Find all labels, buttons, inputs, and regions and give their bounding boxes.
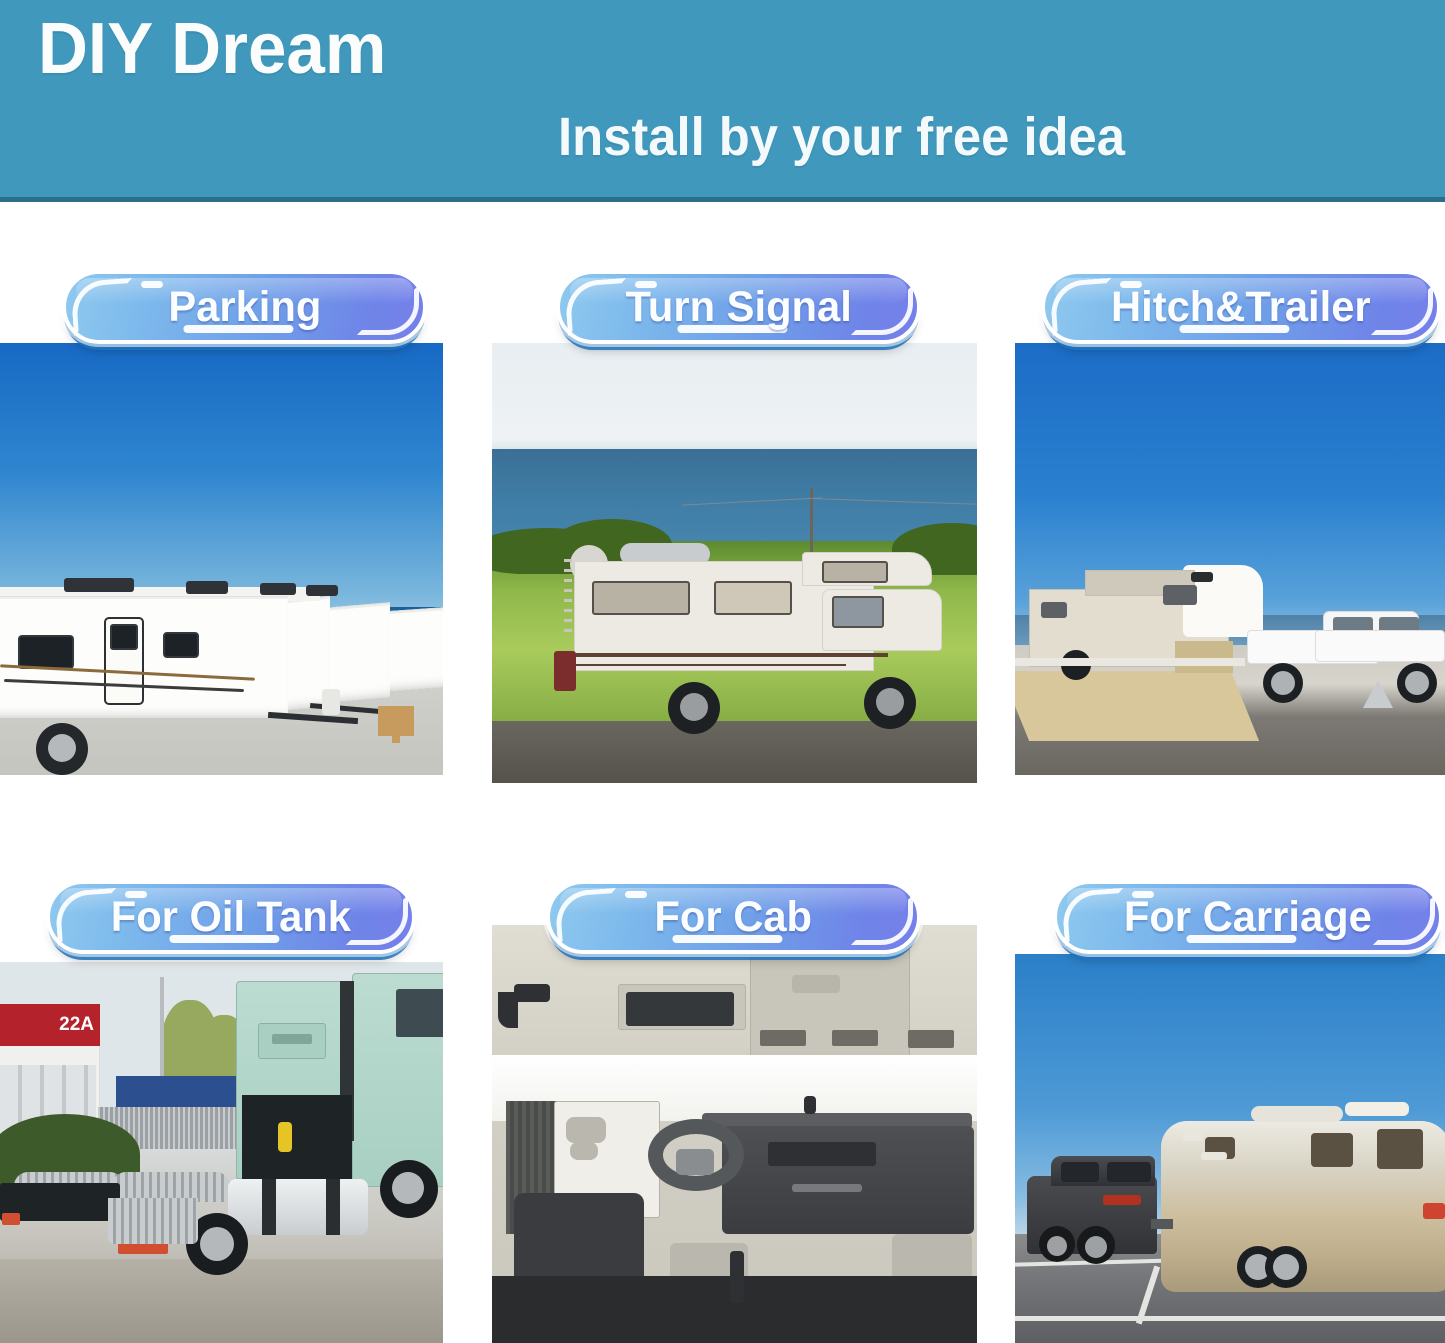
highlight-arc-bottom-right-icon [851,285,913,335]
feature-cell-for-carriage: For Carriage [1015,880,1445,1343]
highlight-arc-bottom-right-icon [851,895,913,945]
badge-label: For Oil Tank [111,893,351,942]
feature-cell-for-oil-tank: 22A [0,880,455,1343]
badge-label: Hitch&Trailer [1111,283,1371,332]
header-banner: DIY Dream Install by your free idea [0,0,1445,202]
poster-page: DIY Dream Install by your free idea [0,0,1445,1343]
highlight-arc-top-left-icon [554,888,620,946]
badge-parking[interactable]: Parking [62,270,427,344]
feature-cell-for-cab: For Cab [492,880,982,1343]
photo-for-carriage [1015,954,1445,1343]
highlight-arc-top-left-icon [70,278,136,336]
badge-label: Turn Signal [625,283,851,332]
badge-label: For Cab [655,893,813,942]
highlight-arc-bottom-right-icon [1371,285,1433,335]
page-title: DIY Dream [38,8,386,90]
highlight-arc-bottom-right-icon [357,285,419,335]
badge-label: Parking [168,283,321,332]
highlight-arc-top-left-icon [1061,888,1127,946]
badge-hitch-trailer[interactable]: Hitch&Trailer [1041,270,1441,344]
badge-for-cab[interactable]: For Cab [546,880,921,954]
feature-cell-parking: Parking [0,270,455,790]
badge-label: For Carriage [1124,893,1372,942]
photo-turn-signal [492,343,977,783]
highlight-dash-top-left-icon [625,891,647,898]
highlight-arc-top-left-icon [564,278,630,336]
badge-for-carriage[interactable]: For Carriage [1053,880,1443,954]
photo-for-cab [492,925,977,1343]
sign-text-22a: 22A [59,1014,94,1036]
feature-cell-hitch-trailer: Hitch&Trailer [1015,270,1445,790]
highlight-arc-bottom-right-icon [1373,895,1435,945]
photo-parking [0,343,443,775]
highlight-arc-top-left-icon [1049,278,1115,336]
highlight-dash-top-left-icon [141,281,163,288]
highlight-arc-bottom-right-icon [346,895,408,945]
page-subtitle: Install by your free idea [558,106,1125,168]
photo-hitch-trailer [1015,343,1445,775]
badge-turn-signal[interactable]: Turn Signal [556,270,921,344]
badge-for-oil-tank[interactable]: For Oil Tank [46,880,416,954]
photo-for-oil-tank: 22A [0,962,443,1343]
feature-cell-turn-signal: Turn Signal [492,270,982,790]
